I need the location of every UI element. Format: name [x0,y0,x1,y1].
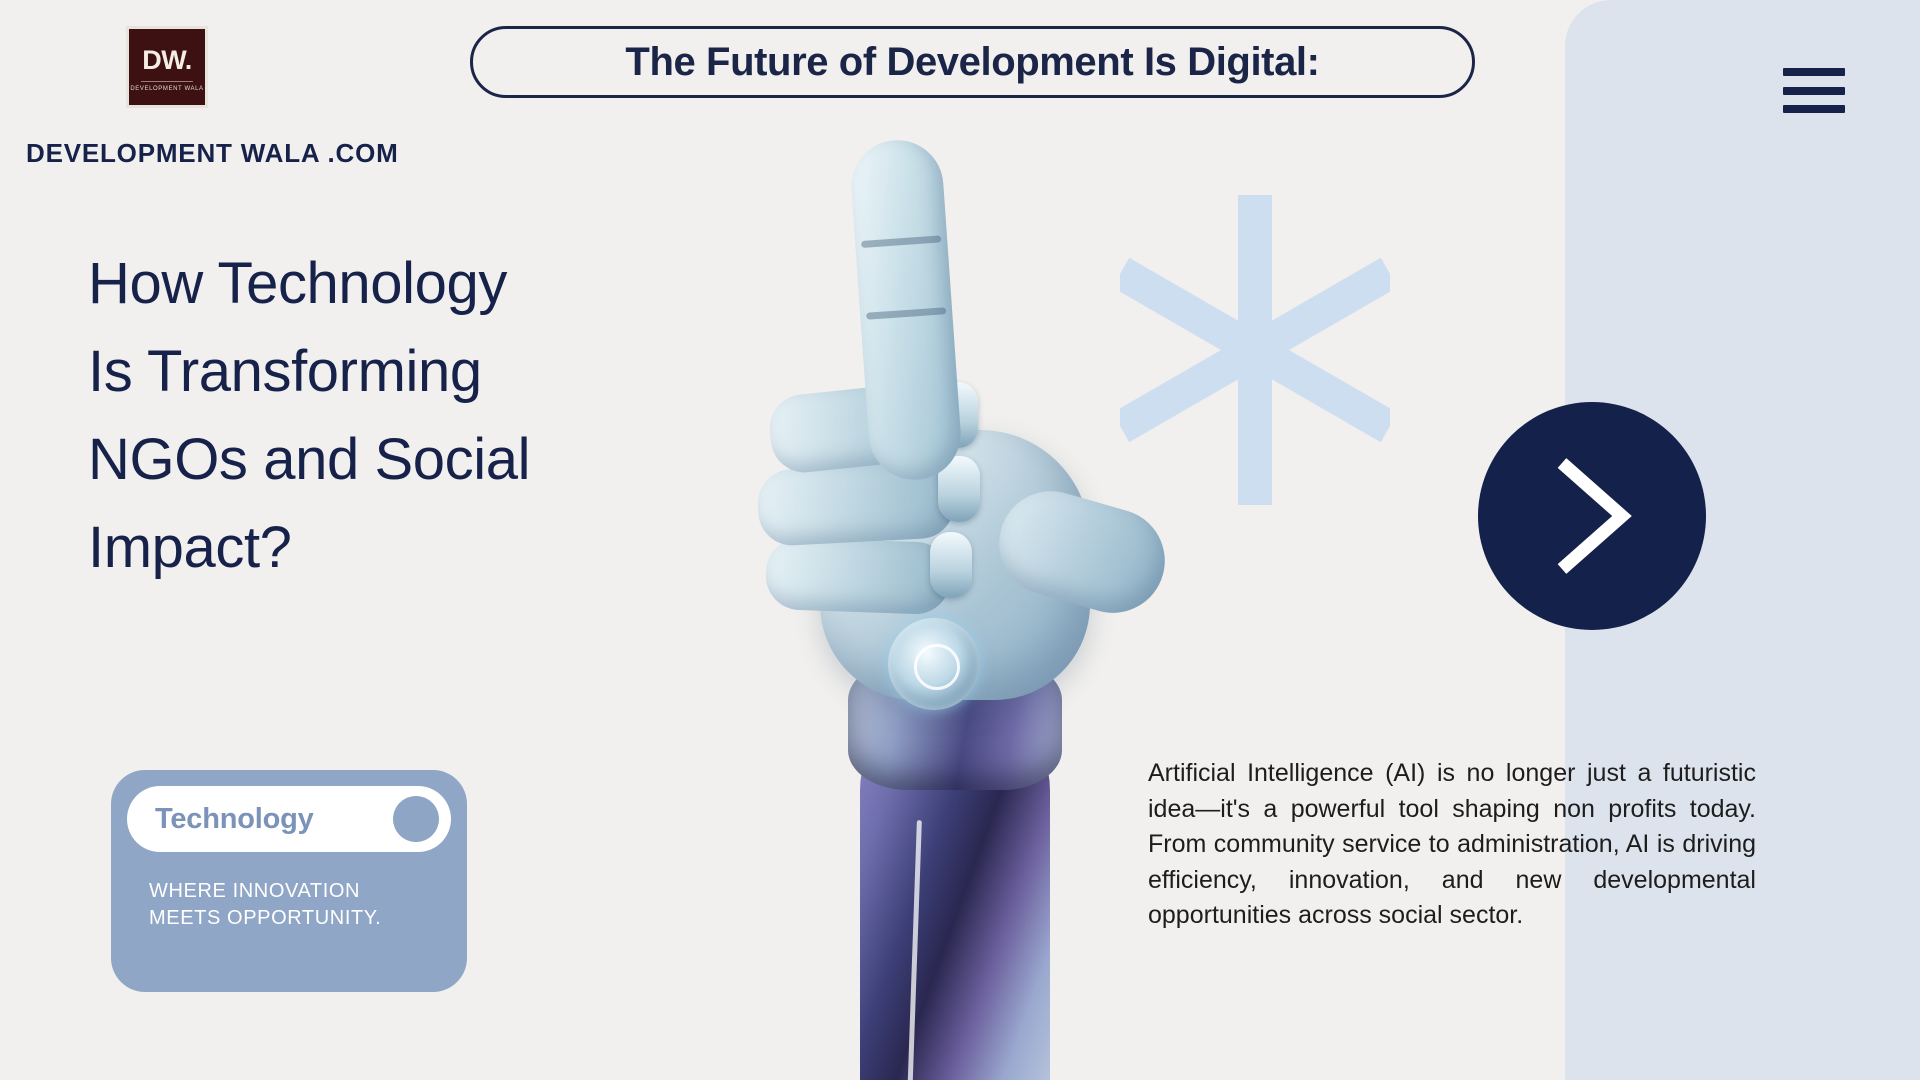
logo-mark: DW. DEVELOPMENT WALA [126,26,208,108]
robot-knuckle-3 [930,532,972,598]
robot-palm-core [888,618,980,710]
tagline-line-1: WHERE INNOVATION [149,878,439,905]
banner-text: The Future of Development Is Digital: [625,40,1319,85]
hamburger-bar-2 [1783,87,1845,95]
hamburger-bar-1 [1783,68,1845,76]
headline-line-3: NGOs and Social [88,416,728,504]
robot-finger-pinky [765,537,951,615]
logo-subtitle: DEVELOPMENT WALA [130,86,203,92]
headline-banner: The Future of Development Is Digital: [470,26,1475,98]
tagline-line-2: MEETS OPPORTUNITY. [149,905,439,932]
body-paragraph: Artificial Intelligence (AI) is no longe… [1148,756,1756,934]
chevron-right-icon [1546,453,1638,579]
headline-line-2: Is Transforming [88,328,728,416]
brand-logo[interactable]: DW. DEVELOPMENT WALA [126,26,208,108]
hamburger-icon[interactable] [1783,68,1845,113]
next-slide-button[interactable] [1478,402,1706,630]
logo-initials: DW. [142,47,192,74]
headline-line-1: How Technology [88,240,728,328]
technology-card[interactable]: Technology WHERE INNOVATION MEETS OPPORT… [111,770,467,992]
page-title: How Technology Is Transforming NGOs and … [88,240,728,593]
hamburger-bar-3 [1783,105,1845,113]
technology-pill[interactable]: Technology [127,786,451,852]
headline-line-4: Impact? [88,504,728,592]
technology-dot-icon [393,796,439,842]
technology-tagline: WHERE INNOVATION MEETS OPPORTUNITY. [149,878,439,932]
logo-divider [141,81,193,82]
technology-label: Technology [155,803,314,836]
brand-wordmark: DEVELOPMENT WALA .COM [26,138,399,169]
